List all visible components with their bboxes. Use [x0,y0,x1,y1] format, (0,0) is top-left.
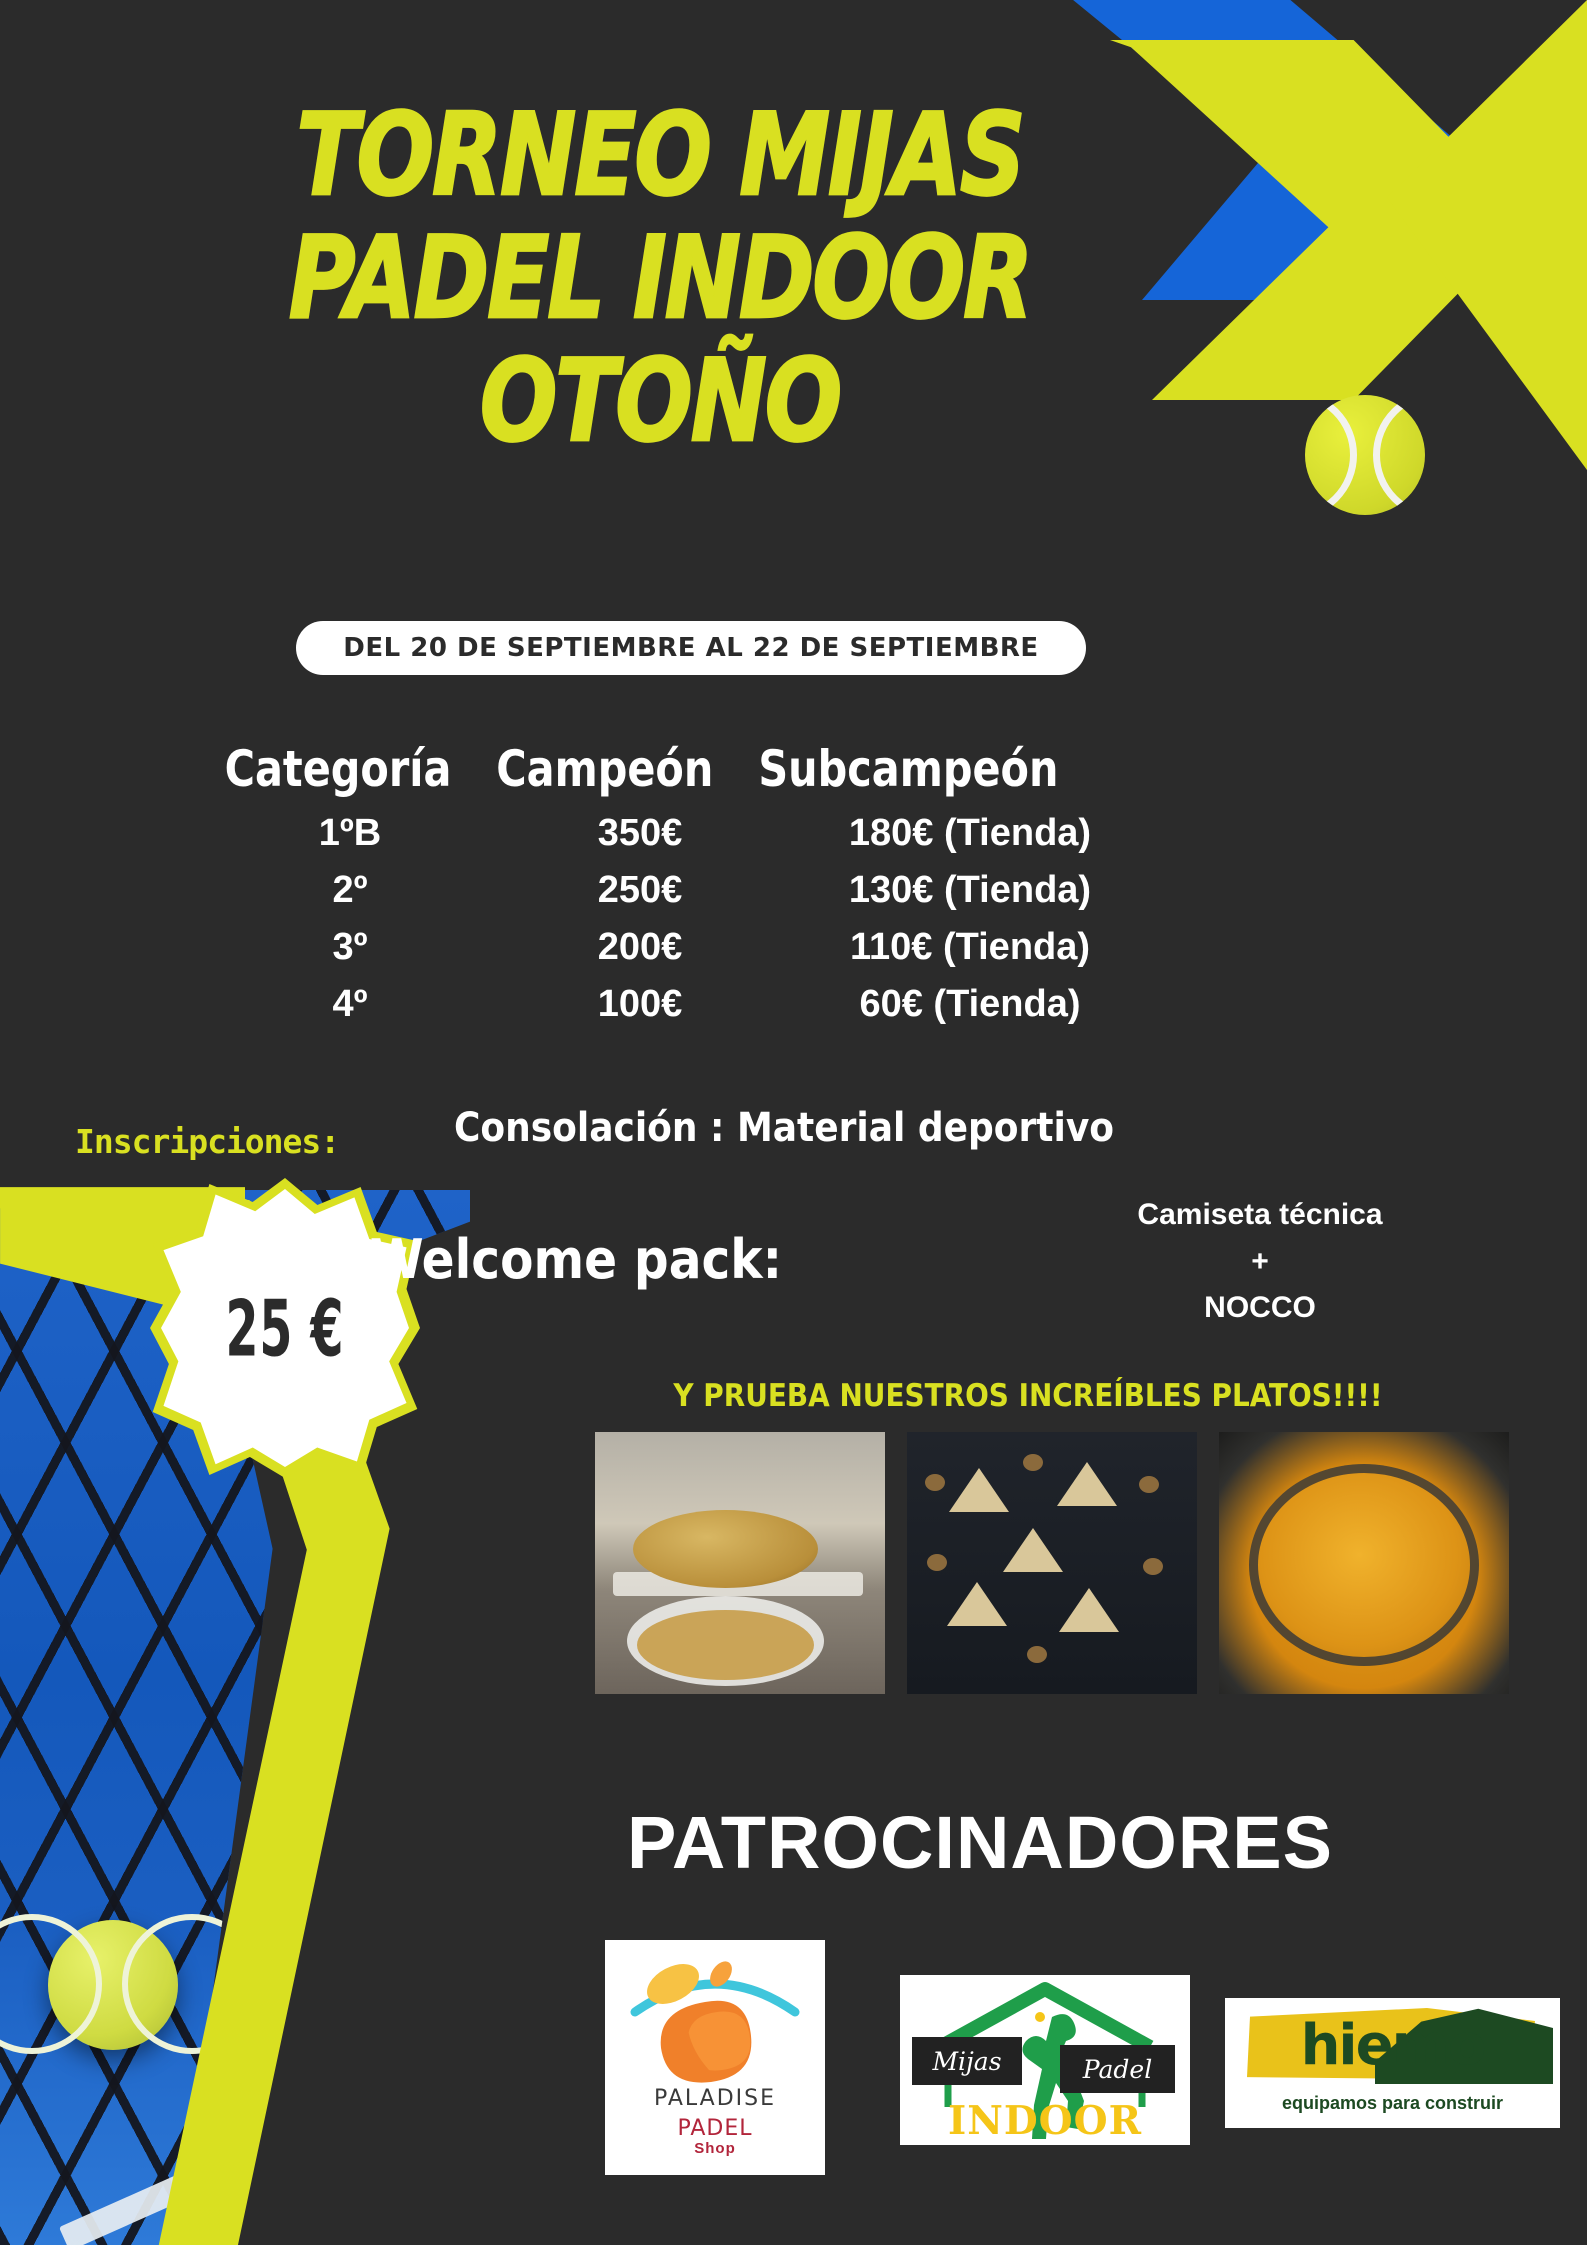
row-runner-up: 180€ (Tienda) [780,812,1160,855]
paladise-padel: PADEL [605,2116,825,2141]
welcome-pack-items: Camiseta técnica + NOCCO [1080,1192,1440,1332]
court-ball-seam-left [0,1914,102,2054]
paella-photo [1219,1432,1509,1694]
row-category: 2º [200,869,500,912]
pack-item-shirt: Camiseta técnica [1080,1192,1440,1239]
padel-word: Padel [1060,2045,1175,2093]
mijas-word: Mijas [912,2037,1022,2085]
row-runner-up: 130€ (Tienda) [780,869,1160,912]
price-value: 25 € [226,1282,345,1373]
poster-title: TORNEO MIJAS PADEL INDOOR OTOÑO [0,104,1320,429]
paladise-name: PALADISE [605,2086,825,2111]
row-category: 1ºB [200,812,500,855]
prize-table-header-row: Categoría Campeón Subcampeón [200,740,1230,798]
table-row: 4º 100€ 60€ (Tienda) [200,983,1320,1026]
header-campeon: Campeón [476,740,734,798]
row-runner-up: 60€ (Tienda) [780,983,1160,1026]
hiemo-tagline: equipamos para construir [1225,2093,1560,2114]
food-headline: Y PRUEBA NUESTROS INCREÍBLES PLATOS!!!! [548,1378,1508,1414]
row-champion: 200€ [500,926,780,969]
consolation-line: Consolación : Material deportivo [404,1105,1164,1151]
row-category: 4º [200,983,500,1026]
title-line-1: TORNEO MIJAS [0,104,1360,208]
mijas-padel-logo: Mijas Padel INDOOR [900,1975,1190,2145]
paladise-mark-icon [605,1950,825,2090]
hiemo-logo: hiemo equipamos para construir [1225,1998,1560,2128]
row-runner-up: 110€ (Tienda) [780,926,1160,969]
table-row: 3º 200€ 110€ (Tienda) [200,926,1320,969]
row-champion: 250€ [500,869,780,912]
tournament-poster: TORNEO MIJAS PADEL INDOOR OTOÑO DEL 20 D… [0,0,1587,2245]
indoor-word: INDOOR [900,2102,1190,2141]
table-row: 1ºB 350€ 180€ (Tienda) [200,812,1320,855]
sponsors-heading: PATROCINADORES [420,1800,1540,1885]
hiemo-name: hiemo [1239,2012,1546,2080]
sponsor-logos: PALADISE PADEL Shop Mijas Padel INDOOR h… [605,1940,1565,2190]
price-badge: 25 € [150,1178,420,1478]
paladise-logo: PALADISE PADEL Shop [605,1940,825,2175]
ball-seam-right [1373,395,1425,515]
registration-label: Inscripciones: [75,1122,339,1161]
paladise-shop: Shop [605,2140,825,2157]
header-subcampeon: Subcampeón [734,740,1084,798]
welcome-pack-label: Welcome pack: [370,1228,782,1291]
row-category: 3º [200,926,500,969]
queso-nueces-photo [907,1432,1197,1694]
title-line-3: OTOÑO [0,350,1360,454]
title-line-2: PADEL INDOOR [0,227,1360,331]
court-tennis-ball [48,1920,178,2050]
date-banner: DEL 20 DE SEPTIEMBRE AL 22 DE SEPTIEMBRE [296,621,1086,675]
row-champion: 350€ [500,812,780,855]
date-banner-text: DEL 20 DE SEPTIEMBRE AL 22 DE SEPTIEMBRE [343,633,1038,663]
row-champion: 100€ [500,983,780,1026]
table-row: 2º 250€ 130€ (Tienda) [200,869,1320,912]
tortilla-photo [595,1432,885,1694]
food-photo-row [595,1432,1515,1694]
header-categoria: Categoría [200,740,476,798]
prize-table: Categoría Campeón Subcampeón 1ºB 350€ 18… [200,740,1320,1026]
pack-item-nocco: NOCCO [1080,1285,1440,1332]
pack-item-plus: + [1080,1239,1440,1286]
